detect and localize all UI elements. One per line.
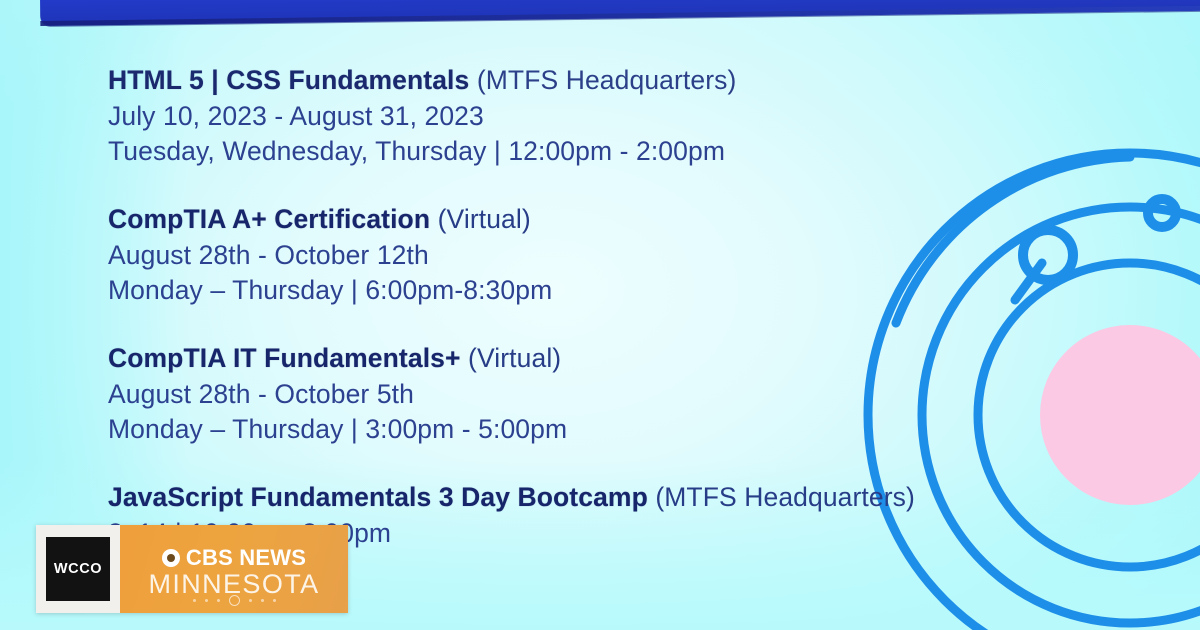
course-title: CompTIA IT Fundamentals+	[108, 343, 461, 373]
dot	[205, 599, 208, 602]
course-dates: August 28th - October 12th	[108, 238, 1068, 273]
station-logo: WCCO	[46, 537, 110, 601]
arc-node-small	[1148, 199, 1176, 227]
dot	[217, 599, 220, 602]
broadcast-news-bug: WCCO CBS NEWS MINNESOTA	[36, 525, 348, 613]
course-location: (MTFS Headquarters)	[477, 65, 737, 95]
course-schedule: Monday – Thursday | 3:00pm - 5:00pm	[108, 412, 1068, 447]
course-dates: July 10, 2023 - August 31, 2023	[108, 99, 1068, 134]
panel-dot-decoration	[120, 595, 348, 606]
top-accent-band	[40, 0, 1200, 26]
top-accent-band-shadow	[40, 5, 1200, 26]
dot	[273, 599, 276, 602]
course-heading: JavaScript Fundamentals 3 Day Bootcamp (…	[108, 479, 1068, 516]
course-schedule-list: HTML 5 | CSS Fundamentals (MTFS Headquar…	[108, 62, 1068, 551]
course-dates: August 28th - October 5th	[108, 377, 1068, 412]
broadcast-slide: HTML 5 | CSS Fundamentals (MTFS Headquar…	[0, 0, 1200, 630]
course-heading: HTML 5 | CSS Fundamentals (MTFS Headquar…	[108, 62, 1068, 99]
course-item: CompTIA A+ Certification (Virtual) Augus…	[108, 201, 1068, 308]
course-title: JavaScript Fundamentals 3 Day Bootcamp	[108, 482, 648, 512]
station-logo-frame: WCCO	[36, 525, 120, 613]
course-heading: CompTIA IT Fundamentals+ (Virtual)	[108, 340, 1068, 377]
network-name: CBS NEWS	[186, 546, 306, 570]
course-schedule: Monday – Thursday | 6:00pm-8:30pm	[108, 273, 1068, 308]
course-location: (Virtual)	[438, 204, 531, 234]
dot-ring	[229, 595, 240, 606]
course-title: HTML 5 | CSS Fundamentals	[108, 65, 469, 95]
dot	[261, 599, 264, 602]
dot	[249, 599, 252, 602]
cbs-eye-icon	[162, 549, 180, 567]
course-title: CompTIA A+ Certification	[108, 204, 430, 234]
course-schedule: Tuesday, Wednesday, Thursday | 12:00pm -…	[108, 134, 1068, 169]
dot	[193, 599, 196, 602]
course-item: HTML 5 | CSS Fundamentals (MTFS Headquar…	[108, 62, 1068, 169]
market-name: MINNESOTA	[148, 569, 319, 599]
course-location: (MTFS Headquarters)	[655, 482, 915, 512]
course-heading: CompTIA A+ Certification (Virtual)	[108, 201, 1068, 238]
course-location: (Virtual)	[468, 343, 561, 373]
network-panel: CBS NEWS MINNESOTA	[120, 525, 348, 613]
course-item: CompTIA IT Fundamentals+ (Virtual) Augus…	[108, 340, 1068, 447]
network-row: CBS NEWS	[162, 546, 306, 570]
